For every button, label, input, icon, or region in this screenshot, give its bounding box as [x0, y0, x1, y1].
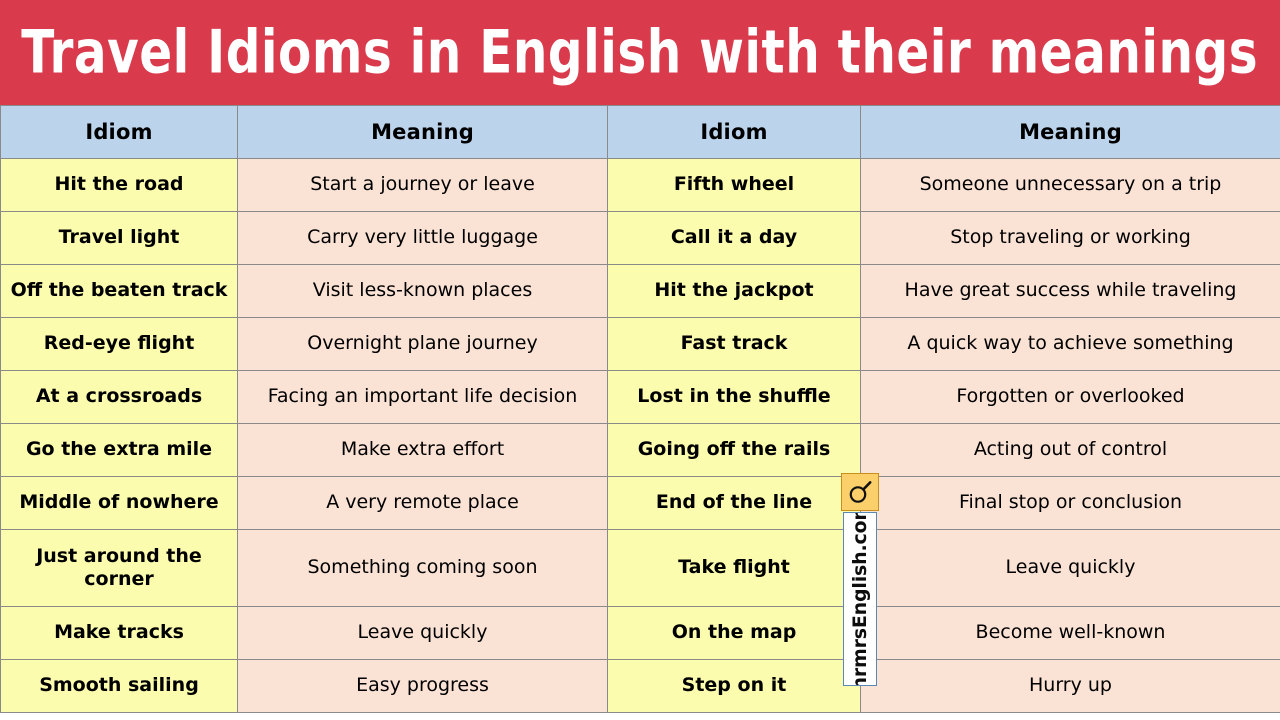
- cell-idiom-left: Smooth sailing: [1, 660, 238, 713]
- table-row: Just around the cornerSomething coming s…: [1, 530, 1280, 607]
- cell-meaning-right: Have great success while traveling: [861, 265, 1280, 318]
- cell-meaning-right: Stop traveling or working: [861, 212, 1280, 265]
- watermark-label: mrmrsEnglish.com: [849, 512, 871, 686]
- cell-meaning-left: A very remote place: [238, 477, 608, 530]
- table-row: Off the beaten trackVisit less-known pla…: [1, 265, 1280, 318]
- table-row: Go the extra mileMake extra effortGoing …: [1, 424, 1280, 477]
- cell-meaning-right: Hurry up: [861, 660, 1280, 713]
- cell-idiom-right: Hit the jackpot: [608, 265, 861, 318]
- cell-idiom-left: Hit the road: [1, 159, 238, 212]
- table-row: Travel lightCarry very little luggageCal…: [1, 212, 1280, 265]
- cell-meaning-right: A quick way to achieve something: [861, 318, 1280, 371]
- cell-idiom-right: Fifth wheel: [608, 159, 861, 212]
- cell-idiom-right: Going off the rails: [608, 424, 861, 477]
- cell-idiom-left: At a crossroads: [1, 371, 238, 424]
- cell-meaning-right: Become well-known: [861, 607, 1280, 660]
- cell-meaning-left: Something coming soon: [238, 530, 608, 607]
- cell-idiom-right: Fast track: [608, 318, 861, 371]
- cell-meaning-left: Easy progress: [238, 660, 608, 713]
- column-header-idiom-left: Idiom: [1, 106, 238, 159]
- cell-idiom-right: Lost in the shuffle: [608, 371, 861, 424]
- cell-idiom-right: Step on it: [608, 660, 861, 713]
- cell-meaning-left: Visit less-known places: [238, 265, 608, 318]
- cell-meaning-left: Start a journey or leave: [238, 159, 608, 212]
- watermark[interactable]: mrmrsEnglish.com: [840, 473, 880, 686]
- cell-meaning-right: Forgotten or overlooked: [861, 371, 1280, 424]
- cell-meaning-left: Overnight plane journey: [238, 318, 608, 371]
- page-title: Travel Idioms in English with their mean…: [22, 23, 1259, 83]
- table-body: Hit the roadStart a journey or leaveFift…: [1, 159, 1280, 713]
- table-header: Idiom Meaning Idiom Meaning: [1, 106, 1280, 159]
- cell-meaning-right: Leave quickly: [861, 530, 1280, 607]
- cell-meaning-right: Someone unnecessary on a trip: [861, 159, 1280, 212]
- cell-idiom-left: Make tracks: [1, 607, 238, 660]
- title-banner: Travel Idioms in English with their mean…: [0, 0, 1280, 105]
- cell-idiom-right: End of the line: [608, 477, 861, 530]
- cell-idiom-left: Middle of nowhere: [1, 477, 238, 530]
- idioms-table: Idiom Meaning Idiom Meaning Hit the road…: [0, 105, 1280, 713]
- column-header-meaning-right: Meaning: [861, 106, 1280, 159]
- page-root: Travel Idioms in English with their mean…: [0, 0, 1280, 720]
- table-row: Make tracksLeave quicklyOn the mapBecome…: [1, 607, 1280, 660]
- watermark-label-box: mrmrsEnglish.com: [843, 512, 877, 686]
- cell-meaning-right: Final stop or conclusion: [861, 477, 1280, 530]
- table-row: Middle of nowhereA very remote placeEnd …: [1, 477, 1280, 530]
- cell-idiom-left: Off the beaten track: [1, 265, 238, 318]
- cell-meaning-left: Make extra effort: [238, 424, 608, 477]
- cell-idiom-right: On the map: [608, 607, 861, 660]
- cell-meaning-left: Facing an important life decision: [238, 371, 608, 424]
- magnifier-icon[interactable]: [841, 473, 879, 511]
- cell-meaning-right: Acting out of control: [861, 424, 1280, 477]
- table-row: At a crossroadsFacing an important life …: [1, 371, 1280, 424]
- table-row: Red-eye flightOvernight plane journeyFas…: [1, 318, 1280, 371]
- cell-meaning-left: Carry very little luggage: [238, 212, 608, 265]
- table-header-row: Idiom Meaning Idiom Meaning: [1, 106, 1280, 159]
- cell-idiom-left: Go the extra mile: [1, 424, 238, 477]
- cell-idiom-left: Red-eye flight: [1, 318, 238, 371]
- table-row: Hit the roadStart a journey or leaveFift…: [1, 159, 1280, 212]
- cell-idiom-left: Just around the corner: [1, 530, 238, 607]
- cell-meaning-left: Leave quickly: [238, 607, 608, 660]
- column-header-idiom-right: Idiom: [608, 106, 861, 159]
- column-header-meaning-left: Meaning: [238, 106, 608, 159]
- cell-idiom-left: Travel light: [1, 212, 238, 265]
- cell-idiom-right: Call it a day: [608, 212, 861, 265]
- cell-idiom-right: Take flight: [608, 530, 861, 607]
- table-row: Smooth sailingEasy progressStep on itHur…: [1, 660, 1280, 713]
